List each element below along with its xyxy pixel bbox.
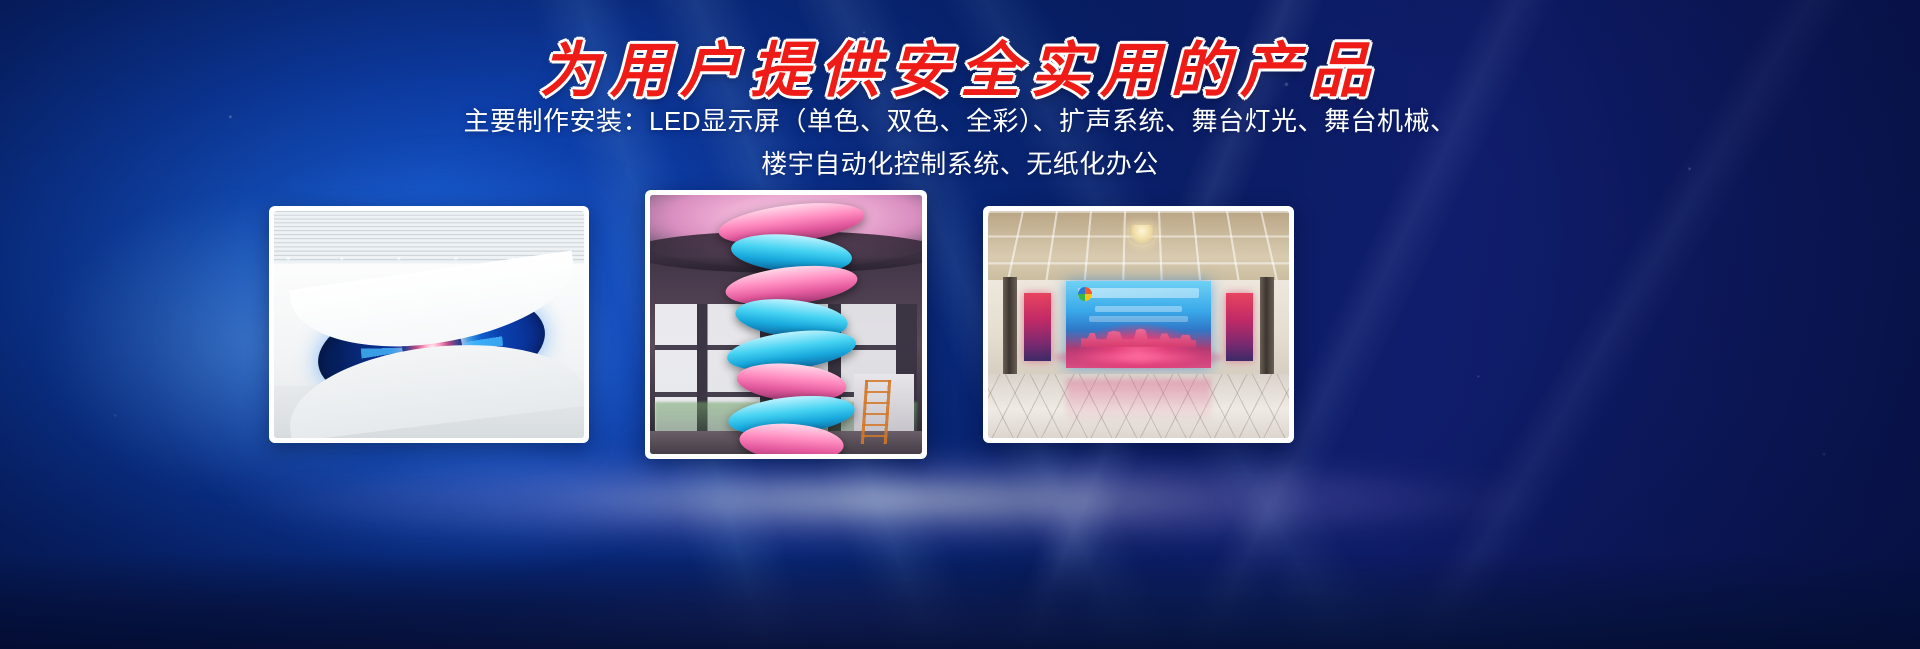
photo-spiral-led-display	[650, 195, 922, 454]
wall-pillar-right	[1260, 277, 1274, 381]
photo-card-eye-led-display[interactable]	[269, 206, 589, 443]
company-logo-icon	[1078, 287, 1092, 301]
screen-skyline-graphic	[1081, 325, 1197, 347]
promo-banner: 为用户提供安全实用的产品 主要制作安装：LED显示屏（单色、双色、全彩）、扩声系…	[0, 0, 1920, 649]
chandelier	[1129, 225, 1155, 245]
screen-glow	[1054, 347, 1223, 367]
photo-gallery	[0, 0, 1920, 649]
installation-ladder	[861, 380, 891, 444]
photo-frame	[988, 211, 1289, 438]
led-side-panel-right	[1226, 293, 1253, 361]
photo-frame	[650, 195, 922, 454]
photo-eye-led-display	[274, 211, 584, 438]
floor-reflection	[1066, 379, 1210, 424]
grid-ceiling	[988, 211, 1289, 280]
led-side-panel-left	[1024, 293, 1051, 361]
photo-card-conference-hall-led-screen[interactable]	[983, 206, 1294, 443]
wall-pillar-left	[1003, 277, 1017, 381]
screen-text-line	[1095, 306, 1182, 312]
screen-title-bar	[1078, 288, 1199, 297]
photo-frame	[274, 211, 584, 438]
photo-card-spiral-led-display[interactable]	[645, 190, 927, 459]
screen-text-line	[1089, 316, 1187, 322]
photo-conference-hall-led-screen	[988, 211, 1289, 438]
spiral-led-column	[721, 200, 862, 449]
